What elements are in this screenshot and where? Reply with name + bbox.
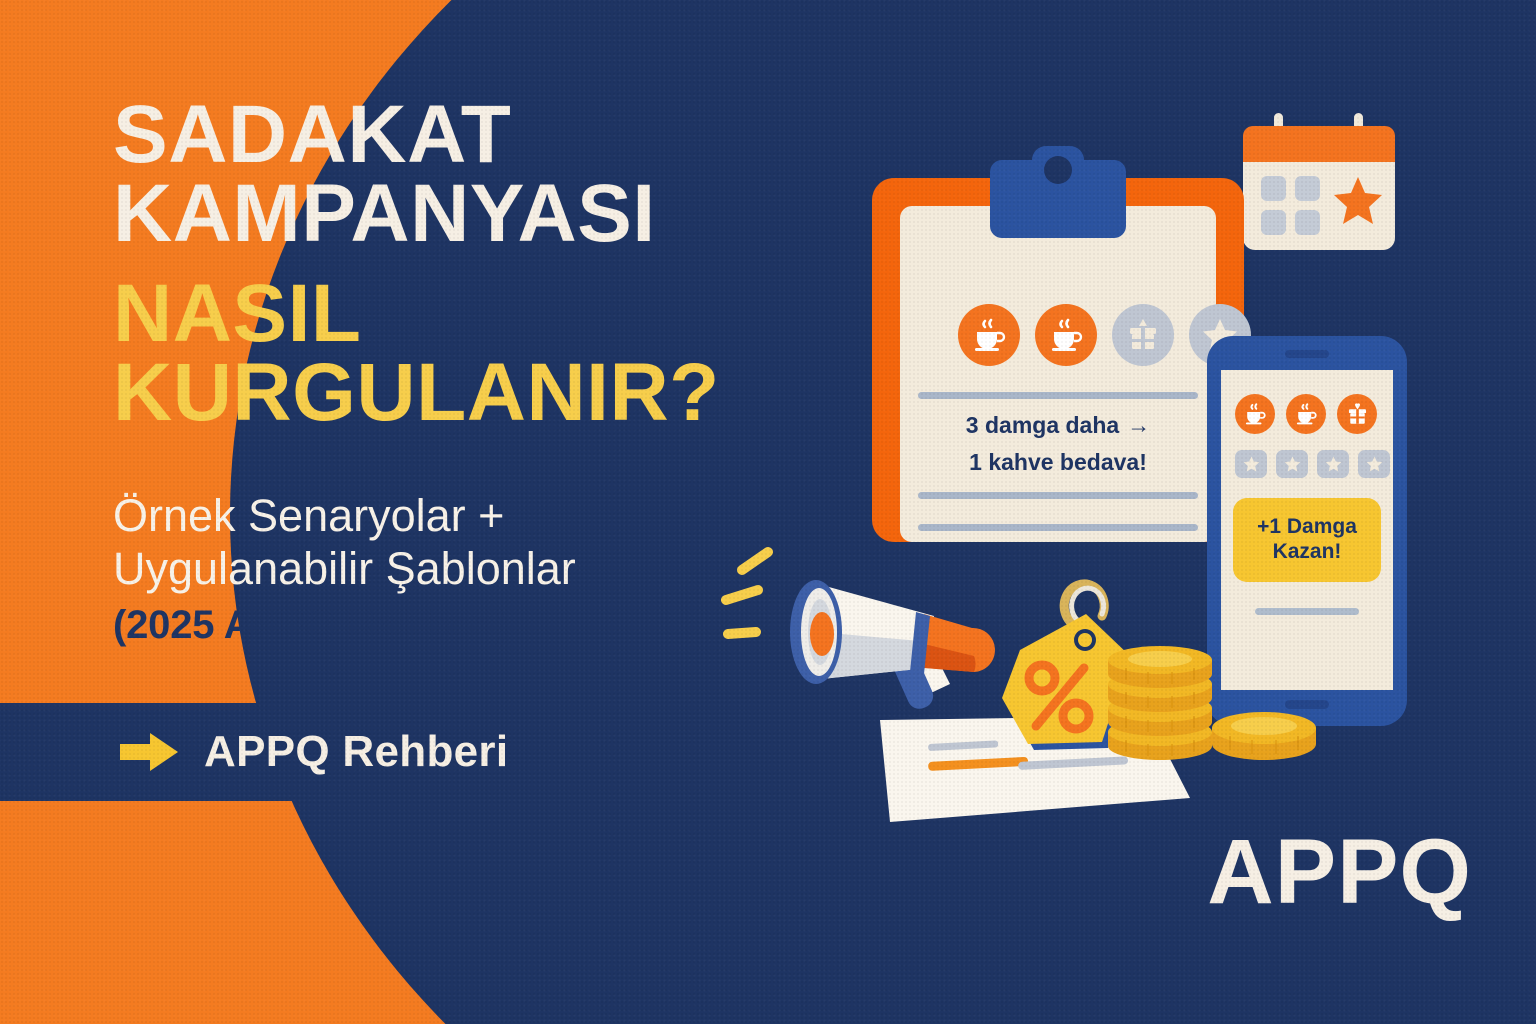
phone-icon-3-gift-icon <box>1337 394 1377 434</box>
subtitle-line-2: Uygulanabilir Şablonlar <box>113 542 576 595</box>
subtitle-line-1: Örnek Senaryolar + <box>113 489 576 542</box>
coin-stack-icon <box>1100 636 1330 772</box>
earn-stamp-button-line-1: +1 Damga <box>1257 515 1357 540</box>
phone-bottom-rule <box>1255 608 1359 615</box>
calendar-day-3 <box>1261 210 1286 235</box>
clipboard-message-arrow-icon: → <box>1127 412 1150 438</box>
phone-icon-2-coffee-cup-icon <box>1286 394 1326 434</box>
stamp-2-coffee-cup-icon <box>1035 304 1097 366</box>
headline-line-1: SADAKAT <box>113 96 720 175</box>
phone-icon-1-coffee-cup-icon <box>1235 394 1275 434</box>
calendar-day-4 <box>1295 210 1320 235</box>
headline-line-3: NASIL <box>113 275 720 354</box>
calendar-day-1 <box>1261 176 1286 201</box>
star-icon <box>1333 176 1383 224</box>
phone-star-tile-1 <box>1235 450 1267 478</box>
stamp-1-coffee-cup-icon <box>958 304 1020 366</box>
phone-star-tile-2 <box>1276 450 1308 478</box>
loyalty-stamp-card-clipboard: 3 damga daha→ 1 kahve bedava! <box>872 146 1244 542</box>
coin-single <box>1212 712 1316 760</box>
megaphone-sound-lines <box>726 552 768 634</box>
clipboard-message: 3 damga daha→ 1 kahve bedava! <box>900 412 1216 476</box>
subtitle-block: Örnek Senaryolar + Uygulanabilir Şablonl… <box>113 489 576 648</box>
calendar-day-2 <box>1295 176 1320 201</box>
poster-canvas: SADAKAT KAMPANYASI NASIL KURGULANIR? Örn… <box>0 0 1536 1024</box>
phone-speaker <box>1285 350 1329 358</box>
clipboard-clip-hole <box>1044 156 1072 184</box>
page-title: SADAKAT KAMPANYASI NASIL KURGULANIR? <box>113 96 720 433</box>
cta-row[interactable]: APPQ Rehberi <box>118 718 508 786</box>
phone-star-tile-4 <box>1358 450 1390 478</box>
calendar-icon <box>1243 110 1395 250</box>
calendar-body <box>1243 162 1395 250</box>
phone-star-tile-3 <box>1317 450 1349 478</box>
subtitle-note: (2025 APPQ Rehberi) <box>113 603 576 648</box>
megaphone-icon <box>720 528 1030 758</box>
coin-stack <box>1108 646 1212 760</box>
clipboard-rule-mid <box>918 492 1198 499</box>
earn-stamp-button-line-2: Kazan! <box>1273 540 1342 565</box>
earn-stamp-button[interactable]: +1 Damga Kazan! <box>1233 498 1381 582</box>
brand-wordmark: APPQ <box>1207 820 1472 925</box>
clipboard-message-line-2: 1 kahve bedava! <box>900 449 1216 476</box>
clipboard-rule-top <box>918 392 1198 399</box>
stamp-3-gift-icon <box>1112 304 1174 366</box>
clipboard-paper: 3 damga daha→ 1 kahve bedava! <box>900 206 1216 542</box>
headline-line-4: KURGULANIR? <box>113 354 720 433</box>
headline-line-2: KAMPANYASI <box>113 175 720 254</box>
clipboard-message-line-1: 3 damga daha <box>966 412 1119 438</box>
arrow-right-icon <box>118 729 180 775</box>
phone-stamp-row <box>1235 394 1377 434</box>
phone-star-tiles <box>1235 450 1390 478</box>
cta-label: APPQ Rehberi <box>204 727 508 777</box>
